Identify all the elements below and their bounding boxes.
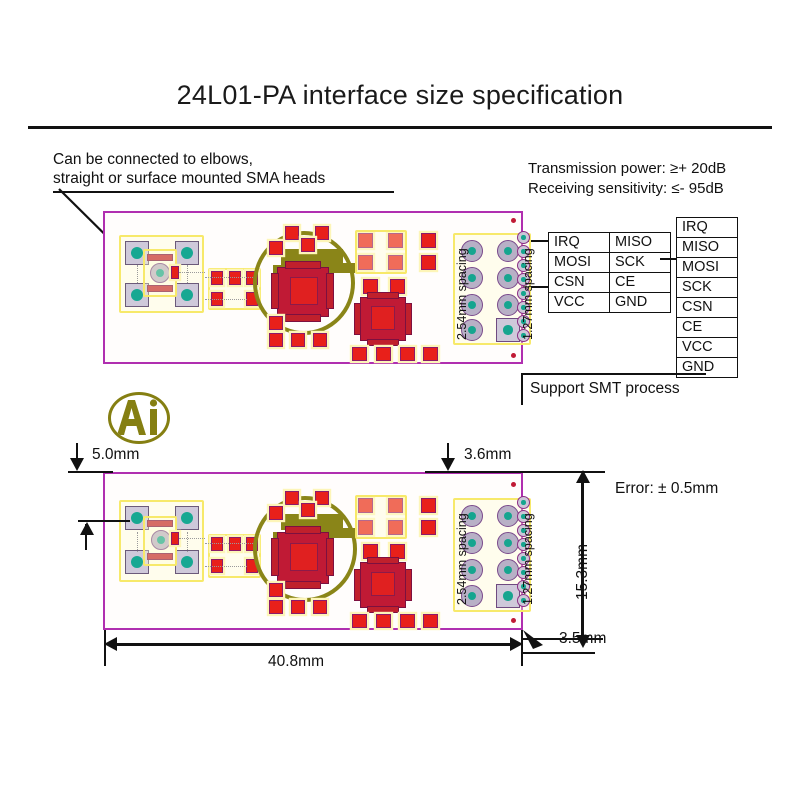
transceiver-ic-core [371, 306, 395, 330]
header-pad-r3c2 [497, 294, 519, 316]
b-trace-dot-left [137, 532, 138, 552]
b-mount-hole-bottom [511, 618, 516, 623]
mount-hole-top [511, 218, 516, 223]
pin-cell: CE [610, 273, 671, 293]
pa-ic-pin-right [326, 273, 334, 309]
pa-pad-t2 [315, 226, 329, 240]
xcvr-pad-b2 [376, 347, 391, 361]
transmission-power-label: Transmission power: ≥+ 20dB [528, 159, 726, 179]
table-row: SCK [677, 278, 738, 298]
table-row: MOSI [677, 258, 738, 278]
b-xcvr-pad-b3 [400, 614, 415, 628]
top-edge-spacing-label: 1.27mm spacing [521, 248, 535, 340]
b-rf-pad-5 [421, 498, 436, 513]
pin-cell: VCC [549, 293, 610, 313]
b-rf-pad-6 [421, 520, 436, 535]
header-pad-r2c2 [497, 267, 519, 289]
trace-dot-left [137, 265, 138, 283]
title-bar: 24L01-PA interface size specification [0, 80, 800, 132]
pa-ic-pin-left [271, 273, 279, 309]
pin-cell: IRQ [677, 218, 738, 238]
xcvr-pad-b4 [423, 347, 438, 361]
error-tolerance-label: Error: ± 0.5mm [615, 480, 718, 498]
pin-cell: MOSI [677, 258, 738, 278]
dim-left-pointer-arrow [80, 522, 94, 535]
b-edge-pad-1 [517, 496, 530, 509]
b-pa-pad-b3 [313, 600, 327, 614]
pin-cell: CSN [549, 273, 610, 293]
match-pad-2 [229, 271, 241, 285]
b-trace-dot-mid [179, 538, 205, 539]
dim-height-arrow-top [576, 470, 590, 483]
table-row: CSN [677, 298, 738, 318]
table-row: CSN CE [549, 273, 671, 293]
b-pa-pin-bottom [285, 581, 321, 589]
pin-cell: SCK [610, 253, 671, 273]
b-pa-pad-t1 [285, 491, 299, 505]
b-match-trace-2 [205, 566, 247, 567]
pin-cell: IRQ [549, 233, 610, 253]
table-row: IRQ [677, 218, 738, 238]
b-pa-pad-b2 [291, 600, 305, 614]
pin-cell: CSN [677, 298, 738, 318]
table-row: VCC [677, 338, 738, 358]
rf-spec-block: Transmission power: ≥+ 20dB Receiving se… [528, 159, 726, 199]
b-pa-pin-left [271, 538, 279, 576]
bottom-header-spacing-label: 2.54mm spacing [455, 513, 469, 605]
pa-pad-b4 [269, 316, 283, 330]
b-xcvr-pad-b4 [423, 614, 438, 628]
edge-pad-1 [517, 231, 530, 244]
b-xcvr-pin-right [405, 569, 412, 601]
transceiver-pin-top [367, 292, 399, 299]
b-trace-dot-right [187, 532, 188, 552]
pa-pad-b3 [313, 333, 327, 347]
sma-pad-br [175, 283, 199, 307]
title-divider [28, 126, 772, 129]
transceiver-pin-right [405, 303, 412, 335]
sma-pad-tr [175, 241, 199, 265]
b-header-pad-r2c2 [497, 532, 519, 554]
dim-5mm-label: 5.0mm [92, 446, 139, 464]
pin-cell: MISO [677, 238, 738, 258]
match-pad-1 [211, 271, 223, 285]
pin-cell: CE [677, 318, 738, 338]
pa-pad-t4 [301, 238, 315, 252]
b-match-pad-1 [211, 537, 223, 551]
b-mount-hole-top [511, 482, 516, 487]
b-header-pad-r1c2 [497, 505, 519, 527]
pin-cell: VCC [677, 338, 738, 358]
xcvr-pad-b3 [400, 347, 415, 361]
pa-ic-core [290, 277, 318, 305]
rf-pad-5 [421, 233, 436, 248]
pa-pad-b1 [269, 333, 283, 347]
pin-table-one-column: IRQ MISO MOSI SCK CSN CE VCC GND [676, 217, 738, 378]
ai-logo-glyph [111, 395, 167, 441]
b-xcvr-pad-b1 [352, 614, 367, 628]
b-pa-pad-t2 [315, 491, 329, 505]
b-rf-pad-zone [355, 495, 407, 539]
dim-height-label: 15.3mm [574, 544, 592, 600]
dim-35mm-label: 3.5mm [559, 630, 606, 648]
dim-ref-left [68, 471, 113, 473]
b-match-trace-1 [205, 543, 257, 544]
b-pa-pin-right [326, 538, 334, 576]
header-pad-r1c2 [497, 240, 519, 262]
sma-note-line1: Can be connected to elbows, [53, 150, 325, 169]
pa-pad-t3 [269, 241, 283, 255]
trace-dot-mid [179, 272, 205, 273]
pin-cell: GND [610, 293, 671, 313]
table-row: IRQ MISO [549, 233, 671, 253]
b-pa-pin-top [285, 526, 321, 534]
sma-note: Can be connected to elbows, straight or … [53, 150, 325, 188]
pa-pad-t1 [285, 226, 299, 240]
dim-36mm-arrowhead [441, 458, 455, 471]
dim-5mm-arrowhead [70, 458, 84, 471]
dim-width-arrow-left [104, 637, 117, 651]
b-rf-matching-pad [171, 532, 179, 545]
pin-cell: MISO [610, 233, 671, 253]
b-transceiver-ic-core [371, 572, 395, 596]
table-row: CE [677, 318, 738, 338]
ai-logo [108, 392, 170, 444]
pa-ic-pin-bottom [285, 314, 321, 322]
b-xcvr-pin-top [367, 557, 399, 564]
support-smt-bracket-h [521, 373, 706, 375]
trace-dot-right [187, 265, 188, 283]
support-smt-bracket-v [521, 373, 523, 405]
b-pa-pad-b1 [269, 600, 283, 614]
table-leader-3 [660, 258, 676, 260]
dim-width-line [110, 643, 515, 646]
transceiver-pin-left [354, 303, 361, 335]
b-xcvr-pin-bottom [367, 606, 399, 613]
b-pa-ic-core [290, 543, 318, 571]
rf-matching-pad [171, 266, 179, 279]
pa-ic-pin-top [285, 261, 321, 269]
dim-35mm-arrow-svg [521, 628, 557, 656]
table-row: VCC GND [549, 293, 671, 313]
rf-pad-6 [421, 255, 436, 270]
receiving-sensitivity-label: Receiving sensitivity: ≤- 95dB [528, 179, 726, 199]
b-pa-pad-t3 [269, 506, 283, 520]
pa-pad-b2 [291, 333, 305, 347]
pin-cell: SCK [677, 278, 738, 298]
b-xcvr-pad-b2 [376, 614, 391, 628]
top-header-spacing-label: 2.54mm spacing [455, 248, 469, 340]
dim-width-label: 40.8mm [268, 653, 324, 671]
dim-36mm-label: 3.6mm [464, 446, 511, 464]
table-row: MISO [677, 238, 738, 258]
page-title: 24L01-PA interface size specification [0, 80, 800, 111]
mount-hole-bottom [511, 353, 516, 358]
diagram-canvas: 24L01-PA interface size specification Ca… [0, 0, 800, 800]
b-xcvr-pin-left [354, 569, 361, 601]
b-match-pad-2 [229, 537, 241, 551]
rf-pad-zone [355, 230, 407, 274]
xcvr-pad-b1 [352, 347, 367, 361]
b-sma-pad-br [175, 550, 199, 574]
b-pa-pad-t4 [301, 503, 315, 517]
match-trace-2 [205, 299, 247, 300]
match-trace-1 [205, 277, 257, 278]
table-row: MOSI SCK [549, 253, 671, 273]
pin-table-two-column: IRQ MISO MOSI SCK CSN CE VCC GND [548, 232, 671, 313]
transceiver-pin-bottom [367, 339, 399, 346]
b-header-pad-r3c2 [497, 559, 519, 581]
pin-cell: MOSI [549, 253, 610, 273]
support-smt-label: Support SMT process [530, 380, 680, 398]
b-sma-pad-tr [175, 506, 199, 530]
bottom-edge-spacing-label: 1.27mm spacing [521, 513, 535, 605]
b-pa-pad-b4 [269, 583, 283, 597]
